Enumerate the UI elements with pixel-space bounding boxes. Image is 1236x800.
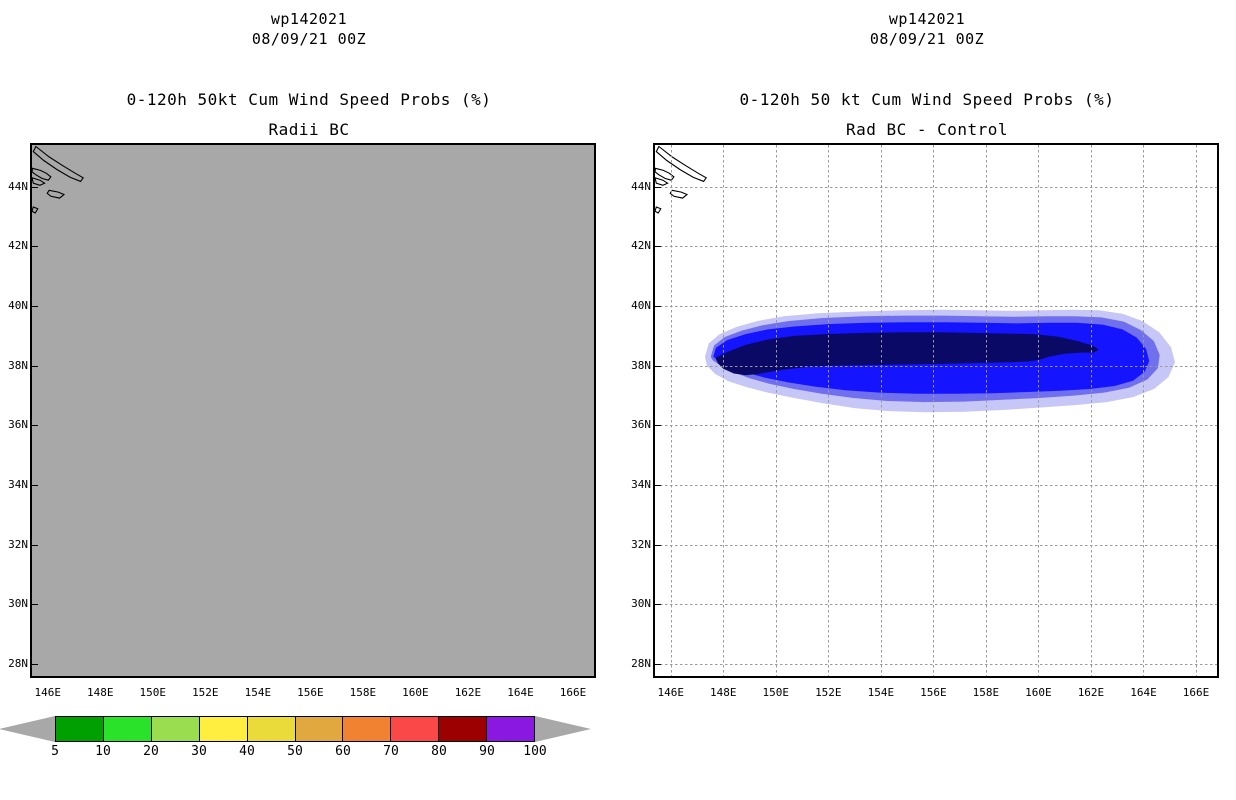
- x-axis-tick: [153, 676, 154, 678]
- gridline-vertical: [723, 145, 724, 676]
- x-axis-tick: [205, 676, 206, 678]
- x-axis-tick: [415, 676, 416, 678]
- colorbar-tick-label: 70: [369, 744, 413, 759]
- colorbar-tick-label: 90: [465, 744, 509, 759]
- x-axis-label: 154E: [235, 686, 281, 699]
- datetime-label: 08/09/21 00Z: [0, 30, 618, 48]
- y-axis-tick: [655, 366, 661, 367]
- y-axis-label: 30N: [0, 597, 28, 610]
- colorbar-swatch[interactable]: [487, 717, 534, 741]
- x-axis-label: 158E: [963, 686, 1009, 699]
- chart-subtitle: Rad BC - Control: [618, 120, 1236, 139]
- map-plot-probability[interactable]: [30, 143, 596, 678]
- colorbar-body: [55, 716, 535, 742]
- gridline-vertical: [881, 145, 882, 676]
- x-axis-tick: [828, 676, 829, 678]
- x-axis-tick: [520, 676, 521, 678]
- x-axis-tick: [881, 676, 882, 678]
- y-axis-label: 34N: [617, 478, 651, 491]
- colorbar-swatch[interactable]: [296, 717, 344, 741]
- probability-colorbar[interactable]: 5102030405060708090100: [55, 716, 535, 742]
- x-axis-tick: [48, 676, 49, 678]
- colorbar-tick-label: 50: [273, 744, 317, 759]
- gridline-vertical: [986, 145, 987, 676]
- gridline-vertical: [1143, 145, 1144, 676]
- y-axis-tick: [32, 306, 38, 307]
- panel-left: wp142021 08/09/21 00Z 0-120h 50kt Cum Wi…: [0, 0, 618, 800]
- x-axis-label: 162E: [445, 686, 491, 699]
- y-axis-label: 32N: [617, 538, 651, 551]
- colorbar-tick-label: 100: [513, 744, 557, 759]
- y-axis-label: 40N: [617, 299, 651, 312]
- y-axis-label: 36N: [0, 418, 28, 431]
- y-axis-label: 44N: [617, 180, 651, 193]
- colorbar-cap-left: [0, 716, 55, 742]
- gridline-vertical: [1091, 145, 1092, 676]
- gridline-horizontal: [655, 545, 1217, 546]
- x-axis-tick: [100, 676, 101, 678]
- x-axis-tick: [573, 676, 574, 678]
- y-axis-tick: [32, 664, 38, 665]
- gridline-horizontal: [655, 425, 1217, 426]
- x-axis-tick: [776, 676, 777, 678]
- x-axis-label: 156E: [287, 686, 333, 699]
- gridline-vertical: [776, 145, 777, 676]
- y-axis-label: 34N: [0, 478, 28, 491]
- y-axis-tick: [655, 187, 661, 188]
- colorbar-tick-label: 10: [81, 744, 125, 759]
- colorbar-swatch[interactable]: [200, 717, 248, 741]
- colorbar-tick-label: 20: [129, 744, 173, 759]
- x-axis-label: 160E: [1015, 686, 1061, 699]
- x-axis-tick: [933, 676, 934, 678]
- colorbar-tick-label: 30: [177, 744, 221, 759]
- y-axis-label: 42N: [0, 239, 28, 252]
- coastline-path: [32, 207, 38, 213]
- x-axis-label: 150E: [753, 686, 799, 699]
- y-axis-tick: [655, 485, 661, 486]
- y-axis-label: 32N: [0, 538, 28, 551]
- y-axis-tick: [655, 545, 661, 546]
- x-axis-tick: [986, 676, 987, 678]
- y-axis-label: 30N: [617, 597, 651, 610]
- x-axis-tick: [468, 676, 469, 678]
- coastline-overlay: [655, 145, 1217, 676]
- storm-id-label: wp142021: [0, 10, 618, 28]
- x-axis-label: 148E: [77, 686, 123, 699]
- coastline-path: [656, 147, 706, 182]
- y-axis-tick: [655, 425, 661, 426]
- map-plot-difference[interactable]: [653, 143, 1219, 678]
- x-axis-label: 162E: [1068, 686, 1114, 699]
- y-axis-tick: [655, 664, 661, 665]
- colorbar-tick-label: 5: [33, 744, 77, 759]
- coastline-overlay: [32, 145, 594, 676]
- x-axis-tick: [1038, 676, 1039, 678]
- gridline-vertical: [671, 145, 672, 676]
- chart-title: 0-120h 50kt Cum Wind Speed Probs (%): [0, 90, 618, 109]
- colorbar-swatch[interactable]: [104, 717, 152, 741]
- y-axis-tick: [655, 306, 661, 307]
- x-axis-label: 156E: [910, 686, 956, 699]
- chart-title: 0-120h 50 kt Cum Wind Speed Probs (%): [618, 90, 1236, 109]
- coastline-path: [670, 190, 687, 198]
- x-axis-tick: [1091, 676, 1092, 678]
- colorbar-swatch[interactable]: [439, 717, 487, 741]
- gridline-horizontal: [655, 187, 1217, 188]
- x-axis-label: 152E: [805, 686, 851, 699]
- gridline-vertical: [828, 145, 829, 676]
- x-axis-label: 160E: [392, 686, 438, 699]
- gridline-horizontal: [655, 306, 1217, 307]
- y-axis-label: 28N: [0, 657, 28, 670]
- gridline-vertical: [933, 145, 934, 676]
- colorbar-swatch[interactable]: [343, 717, 391, 741]
- x-axis-tick: [1196, 676, 1197, 678]
- x-axis-tick: [310, 676, 311, 678]
- y-axis-tick: [32, 425, 38, 426]
- gridline-horizontal: [655, 664, 1217, 665]
- y-axis-label: 42N: [617, 239, 651, 252]
- x-axis-label: 148E: [700, 686, 746, 699]
- y-axis-tick: [655, 604, 661, 605]
- y-axis-tick: [32, 246, 38, 247]
- x-axis-label: 164E: [1120, 686, 1166, 699]
- colorbar-cap-triangle: [0, 716, 55, 742]
- storm-id-label: wp142021: [618, 10, 1236, 28]
- x-axis-label: 166E: [1173, 686, 1219, 699]
- datetime-label: 08/09/21 00Z: [618, 30, 1236, 48]
- colorbar-swatch[interactable]: [56, 717, 104, 741]
- colorbar-tick-label: 40: [225, 744, 269, 759]
- x-axis-label: 152E: [182, 686, 228, 699]
- chart-subtitle: Radii BC: [0, 120, 618, 139]
- x-axis-tick: [258, 676, 259, 678]
- colorbar-swatch[interactable]: [152, 717, 200, 741]
- y-axis-tick: [655, 246, 661, 247]
- coastline-path: [47, 190, 64, 198]
- x-axis-tick: [671, 676, 672, 678]
- gridline-horizontal: [655, 485, 1217, 486]
- y-axis-label: 36N: [617, 418, 651, 431]
- x-axis-label: 166E: [550, 686, 596, 699]
- colorbar-tick-label: 60: [321, 744, 365, 759]
- y-axis-label: 28N: [617, 657, 651, 670]
- x-axis-label: 164E: [497, 686, 543, 699]
- x-axis-label: 146E: [25, 686, 71, 699]
- y-axis-tick: [32, 366, 38, 367]
- gridline-vertical: [1038, 145, 1039, 676]
- x-axis-label: 146E: [648, 686, 694, 699]
- y-axis-label: 38N: [0, 359, 28, 372]
- gridline-horizontal: [655, 366, 1217, 367]
- colorbar-cap-triangle: [535, 716, 591, 742]
- y-axis-tick: [32, 485, 38, 486]
- panel-right: wp142021 08/09/21 00Z 0-120h 50 kt Cum W…: [618, 0, 1236, 800]
- x-axis-label: 154E: [858, 686, 904, 699]
- y-axis-tick: [32, 545, 38, 546]
- gridline-horizontal: [655, 604, 1217, 605]
- x-axis-tick: [723, 676, 724, 678]
- coastline-path: [33, 147, 83, 182]
- x-axis-label: 158E: [340, 686, 386, 699]
- y-axis-label: 40N: [0, 299, 28, 312]
- y-axis-label: 38N: [617, 359, 651, 372]
- gridline-vertical: [1196, 145, 1197, 676]
- y-axis-tick: [32, 604, 38, 605]
- gridline-horizontal: [655, 246, 1217, 247]
- colorbar-swatch[interactable]: [391, 717, 439, 741]
- colorbar-cap-right: [535, 716, 591, 742]
- x-axis-tick: [1143, 676, 1144, 678]
- y-axis-tick: [32, 187, 38, 188]
- x-axis-label: 150E: [130, 686, 176, 699]
- y-axis-label: 44N: [0, 180, 28, 193]
- colorbar-swatch[interactable]: [248, 717, 296, 741]
- colorbar-tick-label: 80: [417, 744, 461, 759]
- x-axis-tick: [363, 676, 364, 678]
- coastline-path: [655, 207, 661, 213]
